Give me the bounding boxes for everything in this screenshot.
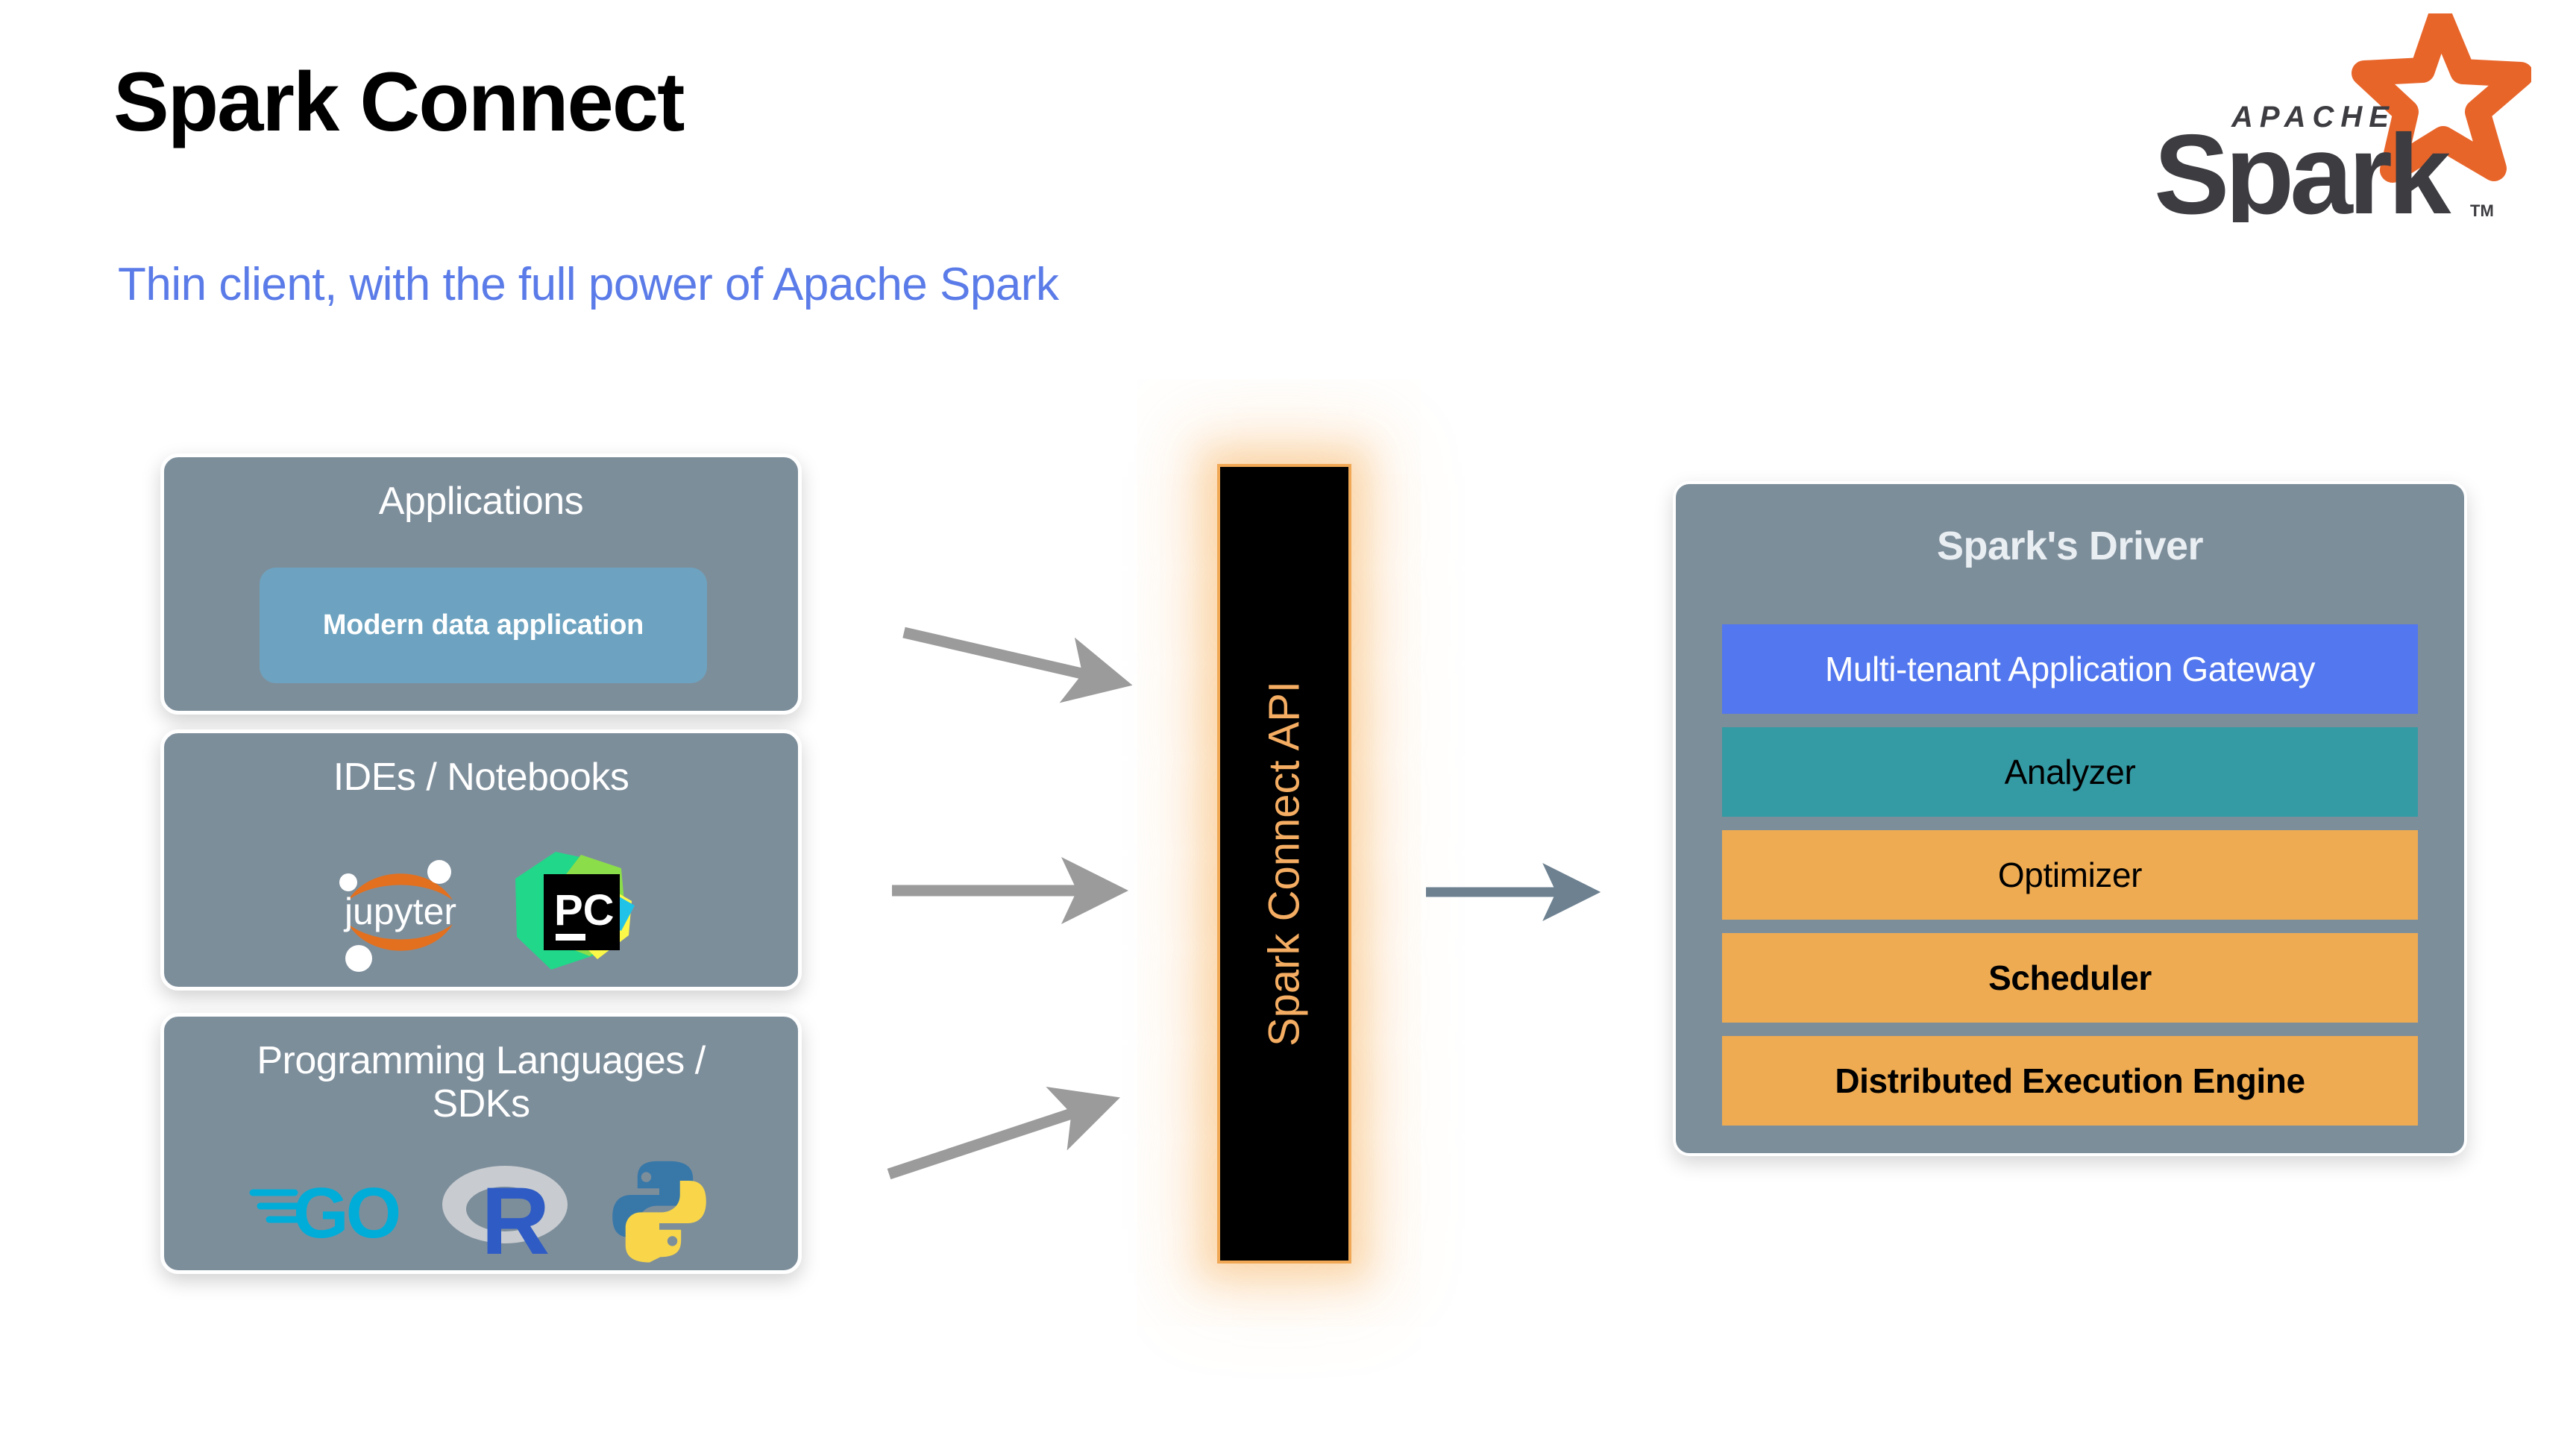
client-box-languages-title: Programming Languages / SDKs <box>164 1017 798 1126</box>
client-box-ides-title: IDEs / Notebooks <box>164 733 798 799</box>
client-box-applications[interactable]: Applications Modern data application <box>160 453 802 715</box>
slide-canvas: Spark Connect Thin client, with the full… <box>0 0 2576 1447</box>
client-box-languages-title-line2: SDKs <box>433 1082 530 1126</box>
r-logo: R <box>439 1157 571 1265</box>
pycharm-pc-label: PC <box>554 886 615 935</box>
driver-row-label: Scheduler <box>1988 958 2152 998</box>
arrow-applications-to-api <box>904 633 1117 682</box>
client-box-programming-languages[interactable]: Programming Languages / SDKs GO <box>160 1013 802 1274</box>
r-letter: R <box>481 1168 550 1261</box>
languages-logo-row: GO R <box>164 1155 798 1267</box>
page-subtitle: Thin client, with the full power of Apac… <box>118 260 1058 310</box>
driver-row-label: Distributed Execution Engine <box>1835 1061 2305 1101</box>
spark-connect-api-label: Spark Connect API <box>1260 681 1310 1046</box>
trademark-mark: TM <box>2470 201 2494 220</box>
driver-row-label: Multi-tenant Application Gateway <box>1825 649 2315 689</box>
go-logo: GO <box>248 1160 405 1262</box>
client-box-ides-notebooks[interactable]: IDEs / Notebooks jupyter <box>160 729 802 991</box>
client-box-applications-title: Applications <box>164 457 798 523</box>
ides-logo-row: jupyter PC <box>164 847 798 979</box>
spark-connect-api-bar[interactable]: Spark Connect API <box>1217 464 1351 1264</box>
driver-row-label: Optimizer <box>1998 855 2142 895</box>
modern-data-application-chip[interactable]: Modern data application <box>260 568 707 683</box>
sparks-driver-panel[interactable]: Spark's Driver Multi-tenant Application … <box>1673 481 2467 1156</box>
driver-row-distributed-execution-engine[interactable]: Distributed Execution Engine <box>1722 1036 2418 1126</box>
apache-spark-logo-svg: APACHE Spark TM <box>2143 13 2531 222</box>
spark-wordmark: Spark <box>2154 111 2451 222</box>
apache-spark-logo: APACHE Spark TM <box>2143 13 2531 222</box>
driver-component-list: Multi-tenant Application Gateway Analyze… <box>1722 624 2418 1126</box>
arrow-languages-to-api <box>889 1102 1105 1174</box>
client-box-languages-title-line1: Programming Languages / <box>257 1039 705 1082</box>
sparks-driver-title: Spark's Driver <box>1676 484 2464 569</box>
driver-row-multi-tenant-application-gateway[interactable]: Multi-tenant Application Gateway <box>1722 624 2418 714</box>
pycharm-logo: PC <box>509 847 636 978</box>
svg-text:Spark: Spark <box>2154 111 2451 222</box>
driver-row-label: Analyzer <box>2005 752 2136 792</box>
jupyter-logo: jupyter <box>326 847 475 979</box>
python-logo <box>605 1155 714 1267</box>
page-title: Spark Connect <box>113 58 683 146</box>
driver-row-scheduler[interactable]: Scheduler <box>1722 933 2418 1023</box>
go-wordmark: GO <box>293 1173 399 1253</box>
driver-row-analyzer[interactable]: Analyzer <box>1722 727 2418 817</box>
jupyter-wordmark: jupyter <box>343 891 456 932</box>
driver-row-optimizer[interactable]: Optimizer <box>1722 830 2418 920</box>
